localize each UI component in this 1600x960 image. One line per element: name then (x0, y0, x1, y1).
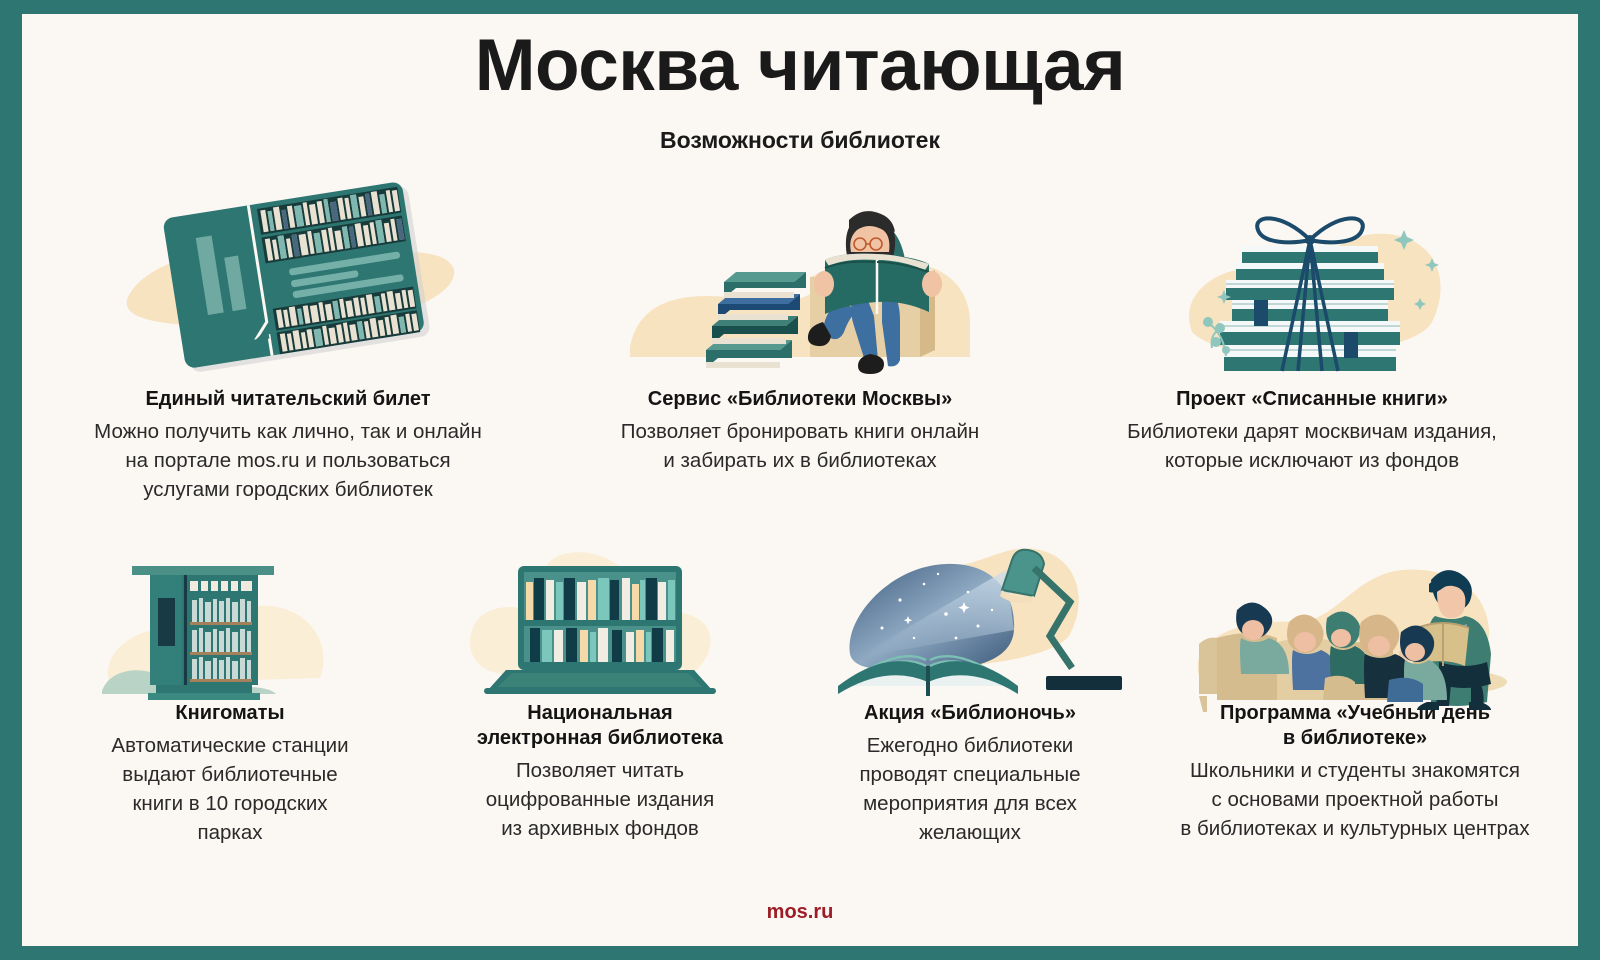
card-biblionight: Акция «Библионочь» Ежегодно библиотеки п… (785, 526, 1155, 847)
book-vending-machine-icon (80, 526, 380, 701)
card-study-day: Программа «Учебный день в библиотеке» Шк… (1155, 526, 1555, 843)
cards-row-bottom: Книгоматы Автоматические станции выдают … (22, 526, 1578, 847)
reader-on-books-icon (620, 172, 980, 387)
card-discarded-books: Проект «Списанные книги» Библиотеки даря… (1056, 172, 1568, 475)
card-heading: Программа «Учебный день в библиотеке» (1155, 701, 1555, 751)
card-heading: Единый читательский билет (32, 387, 544, 412)
footer-link[interactable]: mos.ru (22, 901, 1578, 924)
gift-books-illustration (1056, 172, 1568, 387)
lamp-book-illustration (785, 526, 1155, 701)
card-digital-library: Национальная электронная библиотека Позв… (415, 526, 785, 843)
card-library-service: Сервис «Библиотеки Москвы» Позволяет бро… (544, 172, 1056, 475)
card-body: Позволяет читать оцифрованные издания из… (415, 756, 785, 843)
card-body: Библиотеки дарят москвичам издания, кото… (1056, 417, 1568, 475)
library-card-icon (108, 172, 468, 387)
card-body: Ежегодно библиотеки проводят специальные… (785, 731, 1155, 847)
card-heading: Сервис «Библиотеки Москвы» (544, 387, 1056, 412)
card-heading: Акция «Библионочь» (785, 701, 1155, 726)
card-book-vending: Книгоматы Автоматические станции выдают … (45, 526, 415, 847)
laptop-illustration (415, 526, 785, 701)
card-body: Школьники и студенты знакомятся с основа… (1155, 756, 1555, 843)
page-subtitle: Возможности библиотек (22, 127, 1578, 154)
lecture-illustration (1155, 526, 1555, 701)
infographic-poster: Москва читающая Возможности библиотек (22, 14, 1578, 946)
cards-row-top: Единый читательский билет Можно получить… (22, 172, 1578, 504)
card-library-card: Единый читательский билет Можно получить… (32, 172, 544, 504)
card-heading: Книгоматы (45, 701, 415, 726)
page-title: Москва читающая (22, 28, 1578, 105)
laptop-bookshelf-icon (450, 526, 750, 701)
vending-illustration (45, 526, 415, 701)
library-card-illustration (32, 172, 544, 387)
reader-illustration (544, 172, 1056, 387)
gift-book-stack-icon (1132, 172, 1492, 387)
lamp-open-book-icon (820, 526, 1120, 701)
card-body: Можно получить как лично, так и онлайн н… (32, 417, 544, 504)
lecture-audience-icon (1185, 526, 1525, 701)
card-heading: Проект «Списанные книги» (1056, 387, 1568, 412)
card-heading: Национальная электронная библиотека (415, 701, 785, 751)
card-body: Позволяет бронировать книги онлайн и заб… (544, 417, 1056, 475)
card-body: Автоматические станции выдают библиотечн… (45, 731, 415, 847)
